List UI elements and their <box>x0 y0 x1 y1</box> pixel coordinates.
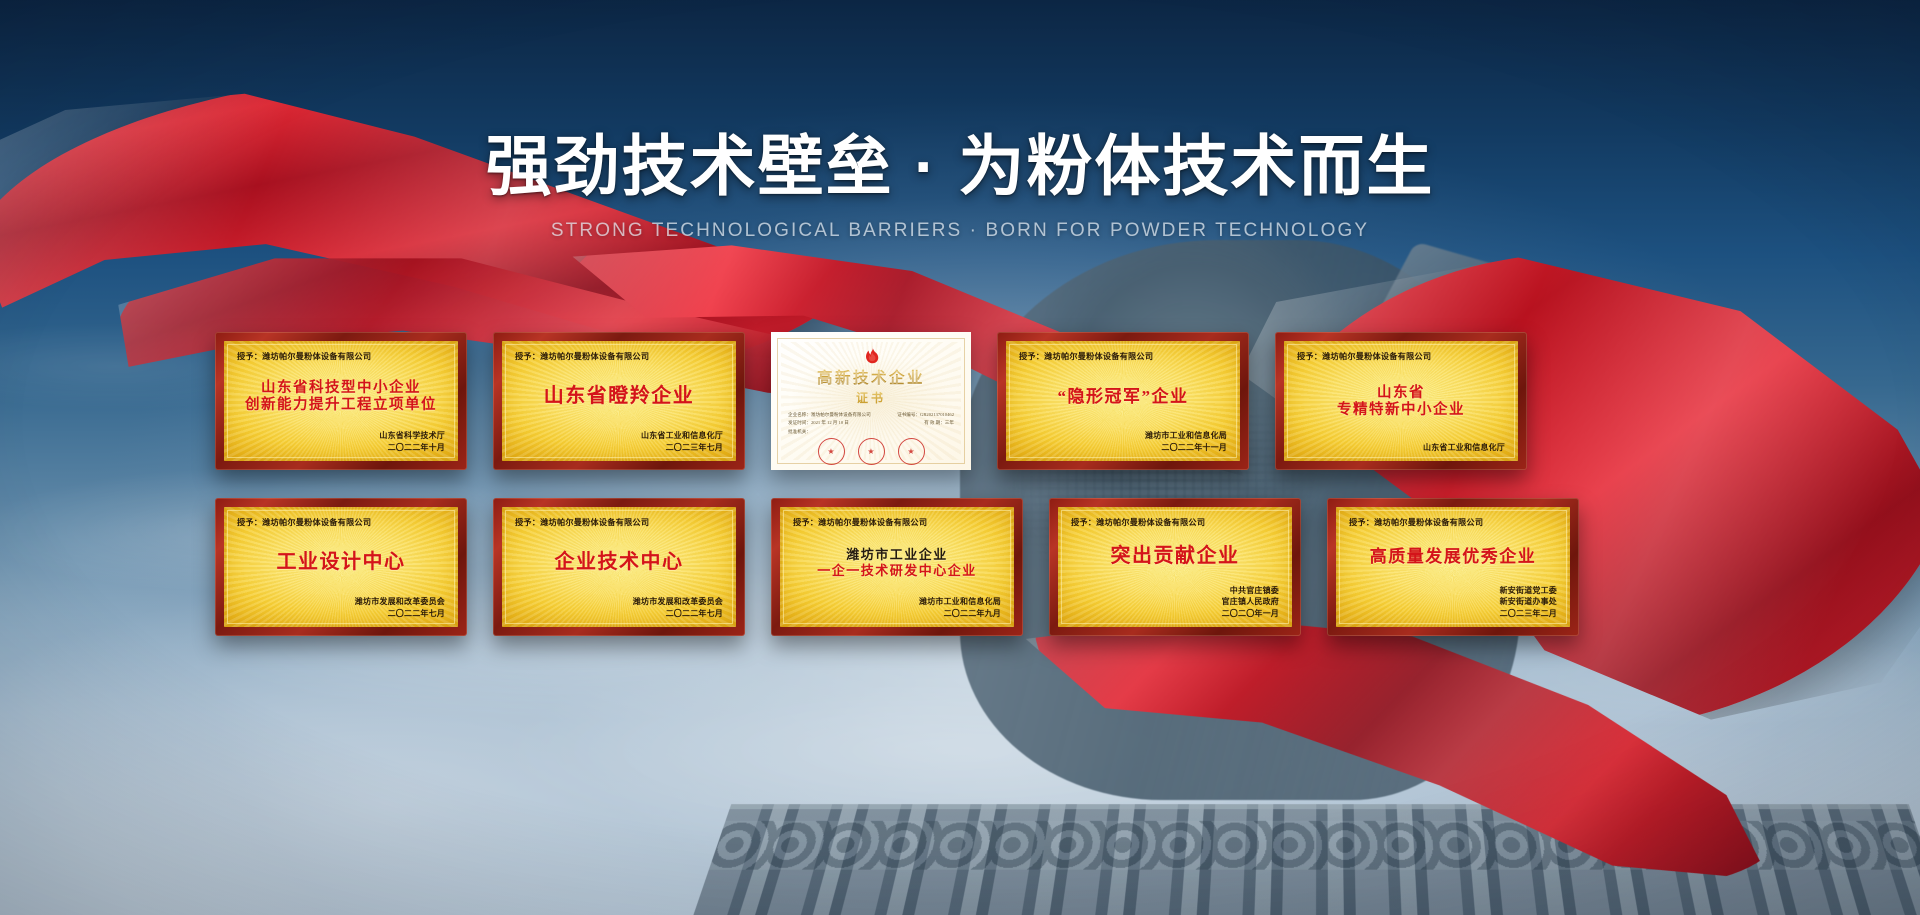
certificate-title-line: 山东省 <box>1377 385 1425 402</box>
certificate-field: 发证时间：2021 年 12 月 10 日 <box>788 419 849 427</box>
certificate-title: “隐形冠军”企业 <box>1019 363 1227 430</box>
certificate-approver-label: 批准机关： <box>788 428 811 436</box>
certificate-issuer-block: 山东省科学技术厅二〇二二年十月 <box>237 430 445 453</box>
certificate-title: 高新技术企业 <box>817 366 925 388</box>
certificate-date: 二〇二〇年一月 <box>1071 608 1279 619</box>
certificate-title-line: 山东省科技型中小企业 <box>261 380 421 397</box>
certificate-issuer-block: 山东省工业和信息化厅 <box>1297 442 1505 453</box>
flame-icon <box>863 346 880 365</box>
certificate-subtitle: 证书 <box>856 389 886 406</box>
certificate-plaque[interactable]: 授予：潍坊帕尔曼粉体设备有限公司企业技术中心潍坊市发展和改革委员会二〇二二年七月 <box>493 498 745 636</box>
seal-2-stamp-icon <box>858 438 885 465</box>
certificate-field-row: 发证时间：2021 年 12 月 10 日有 效 期：三年 <box>788 419 954 427</box>
certificate-approver-row: 批准机关： <box>788 428 954 436</box>
certificate-date: 二〇二二年九月 <box>793 608 1001 619</box>
seal-1-stamp-icon <box>818 438 845 465</box>
certificate-date: 二〇二二年十月 <box>237 442 445 453</box>
certificate-title-line: 专精特新中小企业 <box>1337 402 1465 419</box>
certificate-awardee: 授予：潍坊帕尔曼粉体设备有限公司 <box>1019 350 1227 362</box>
certificate-issuer-block: 潍坊市工业和信息化局二〇二二年十一月 <box>1019 430 1227 453</box>
certificate-awardee: 授予：潍坊帕尔曼粉体设备有限公司 <box>1071 516 1279 528</box>
certificate-date: 二〇二三年二月 <box>1349 608 1557 619</box>
certificate-issuer: 山东省工业和信息化厅 <box>1297 442 1505 453</box>
certificate-issuer-block: 潍坊市工业和信息化局二〇二二年九月 <box>793 596 1001 619</box>
certificate-title: 山东省科技型中小企业创新能力提升工程立项单位 <box>237 363 445 430</box>
certificate-issuer-block: 新安街道党工委新安街道办事处二〇二三年二月 <box>1349 585 1557 619</box>
certificate-field-value: 三年 <box>945 420 954 425</box>
certificate-date: 二〇二二年七月 <box>515 608 723 619</box>
certificate-field-label: 证书编号： <box>897 412 920 417</box>
certificate-date: 二〇二二年十一月 <box>1019 442 1227 453</box>
high-tech-enterprise-certificate[interactable]: 高新技术企业证书企业名称：潍坊帕尔曼粉体设备有限公司证书编号：GR2021370… <box>771 332 971 470</box>
certificate-issuer-block: 山东省工业和信息化厅二〇二三年七月 <box>515 430 723 453</box>
certificate-issuer-block: 潍坊市发展和改革委员会二〇二二年七月 <box>237 596 445 619</box>
certificate-title: 突出贡献企业 <box>1071 529 1279 585</box>
certificate-field-value: GR202137010462 <box>920 412 954 417</box>
seal-3-stamp-icon <box>898 438 925 465</box>
certificate-plaque[interactable]: 授予：潍坊帕尔曼粉体设备有限公司突出贡献企业中共官庄镇委官庄镇人民政府二〇二〇年… <box>1049 498 1301 636</box>
certificate-issuer: 山东省工业和信息化厅 <box>515 430 723 441</box>
certificate-title: 山东省专精特新中小企业 <box>1297 363 1505 442</box>
certificate-field-label: 发证时间： <box>788 420 811 425</box>
certificate-issuer: 新安街道办事处 <box>1349 596 1557 607</box>
certificate-title: 工业设计中心 <box>237 529 445 596</box>
certificate-title-line: 企业技术中心 <box>555 551 684 575</box>
certificate-plaque[interactable]: 授予：潍坊帕尔曼粉体设备有限公司山东省专精特新中小企业山东省工业和信息化厅 <box>1275 332 1527 470</box>
certificate-field: 有 效 期：三年 <box>924 419 954 427</box>
certificate-grid: 授予：潍坊帕尔曼粉体设备有限公司山东省科技型中小企业创新能力提升工程立项单位山东… <box>215 332 1705 636</box>
certificate-field-label: 企业名称： <box>788 412 811 417</box>
certificate-issuer: 山东省科学技术厅 <box>237 430 445 441</box>
plaque-gold-panel: 授予：潍坊帕尔曼粉体设备有限公司工业设计中心潍坊市发展和改革委员会二〇二二年七月 <box>224 507 458 627</box>
certificate-title-line: 山东省瞪羚企业 <box>544 385 695 409</box>
certificate-field-value: 2021 年 12 月 10 日 <box>811 420 849 425</box>
honor-banner: 强劲技术壁垒 · 为粉体技术而生 STRONG TECHNOLOGICAL BA… <box>0 0 1920 915</box>
certificate-issuer: 潍坊市工业和信息化局 <box>793 596 1001 607</box>
certificate-issuer-block: 潍坊市发展和改革委员会二〇二二年七月 <box>515 596 723 619</box>
plaque-gold-panel: 授予：潍坊帕尔曼粉体设备有限公司潍坊市工业企业一企一技术研发中心企业潍坊市工业和… <box>780 507 1014 627</box>
certificate-plaque[interactable]: 授予：潍坊帕尔曼粉体设备有限公司潍坊市工业企业一企一技术研发中心企业潍坊市工业和… <box>771 498 1023 636</box>
plaque-gold-panel: 授予：潍坊帕尔曼粉体设备有限公司企业技术中心潍坊市发展和改革委员会二〇二二年七月 <box>502 507 736 627</box>
certificate-field-label: 有 效 期： <box>924 420 945 425</box>
certificate-issuer-block: 中共官庄镇委官庄镇人民政府二〇二〇年一月 <box>1071 585 1279 619</box>
plaque-gold-panel: 授予：潍坊帕尔曼粉体设备有限公司“隐形冠军”企业潍坊市工业和信息化局二〇二二年十… <box>1006 341 1240 461</box>
certificate-title-line: 一企一技术研发中心企业 <box>817 563 977 578</box>
certificate-issuer: 官庄镇人民政府 <box>1071 596 1279 607</box>
certificate-title-line: “隐形冠军”企业 <box>1058 387 1189 407</box>
plaque-gold-panel: 授予：潍坊帕尔曼粉体设备有限公司山东省科技型中小企业创新能力提升工程立项单位山东… <box>224 341 458 461</box>
certificate-plaque[interactable]: 授予：潍坊帕尔曼粉体设备有限公司高质量发展优秀企业新安街道党工委新安街道办事处二… <box>1327 498 1579 636</box>
certificate-awardee: 授予：潍坊帕尔曼粉体设备有限公司 <box>237 516 445 528</box>
certificate-issuer: 中共官庄镇委 <box>1071 585 1279 596</box>
certificate-title-line: 创新能力提升工程立项单位 <box>245 397 437 414</box>
certificate-title: 高质量发展优秀企业 <box>1349 529 1557 585</box>
certificate-field-row: 企业名称：潍坊帕尔曼粉体设备有限公司证书编号：GR202137010462 <box>788 411 954 419</box>
plaque-gold-panel: 授予：潍坊帕尔曼粉体设备有限公司突出贡献企业中共官庄镇委官庄镇人民政府二〇二〇年… <box>1058 507 1292 627</box>
certificate-issuer: 潍坊市工业和信息化局 <box>1019 430 1227 441</box>
certificate-title: 企业技术中心 <box>515 529 723 596</box>
certificate-date: 二〇二三年七月 <box>515 442 723 453</box>
certificate-field: 企业名称：潍坊帕尔曼粉体设备有限公司 <box>788 411 871 419</box>
certificate-awardee: 授予：潍坊帕尔曼粉体设备有限公司 <box>237 350 445 362</box>
certificate-issuer: 潍坊市发展和改革委员会 <box>237 596 445 607</box>
certificate-awardee: 授予：潍坊帕尔曼粉体设备有限公司 <box>1297 350 1505 362</box>
certificate-row-1: 授予：潍坊帕尔曼粉体设备有限公司山东省科技型中小企业创新能力提升工程立项单位山东… <box>215 332 1705 470</box>
certificate-title-line: 潍坊市工业企业 <box>846 547 948 562</box>
certificate-plaque[interactable]: 授予：潍坊帕尔曼粉体设备有限公司工业设计中心潍坊市发展和改革委员会二〇二二年七月 <box>215 498 467 636</box>
certificate-title-line: 突出贡献企业 <box>1111 545 1240 569</box>
certificate-plaque[interactable]: 授予：潍坊帕尔曼粉体设备有限公司山东省瞪羚企业山东省工业和信息化厅二〇二三年七月 <box>493 332 745 470</box>
page-title: 强劲技术壁垒 · 为粉体技术而生 <box>0 132 1920 202</box>
certificate-row-2: 授予：潍坊帕尔曼粉体设备有限公司工业设计中心潍坊市发展和改革委员会二〇二二年七月… <box>215 498 1705 636</box>
certificate-awardee: 授予：潍坊帕尔曼粉体设备有限公司 <box>515 516 723 528</box>
certificate-plaque[interactable]: 授予：潍坊帕尔曼粉体设备有限公司“隐形冠军”企业潍坊市工业和信息化局二〇二二年十… <box>997 332 1249 470</box>
carved-stone-base <box>690 804 1920 915</box>
page-subtitle: STRONG TECHNOLOGICAL BARRIERS · BORN FOR… <box>0 220 1920 242</box>
hero-text-block: 强劲技术壁垒 · 为粉体技术而生 STRONG TECHNOLOGICAL BA… <box>0 132 1920 242</box>
certificate-plaque[interactable]: 授予：潍坊帕尔曼粉体设备有限公司山东省科技型中小企业创新能力提升工程立项单位山东… <box>215 332 467 470</box>
certificate-awardee: 授予：潍坊帕尔曼粉体设备有限公司 <box>1349 516 1557 528</box>
certificate-awardee: 授予：潍坊帕尔曼粉体设备有限公司 <box>515 350 723 362</box>
certificate-title: 潍坊市工业企业一企一技术研发中心企业 <box>793 529 1001 596</box>
certificate-issuer: 新安街道党工委 <box>1349 585 1557 596</box>
certificate-title: 山东省瞪羚企业 <box>515 363 723 430</box>
plaque-gold-panel: 授予：潍坊帕尔曼粉体设备有限公司山东省瞪羚企业山东省工业和信息化厅二〇二三年七月 <box>502 341 736 461</box>
certificate-issuer: 潍坊市发展和改革委员会 <box>515 596 723 607</box>
certificate-title-line: 工业设计中心 <box>277 551 406 575</box>
certificate-date: 二〇二二年七月 <box>237 608 445 619</box>
certificate-title-line: 高质量发展优秀企业 <box>1370 547 1537 567</box>
certificate-field: 证书编号：GR202137010462 <box>897 411 954 419</box>
certificate-awardee: 授予：潍坊帕尔曼粉体设备有限公司 <box>793 516 1001 528</box>
certificate-fields: 企业名称：潍坊帕尔曼粉体设备有限公司证书编号：GR202137010462发证时… <box>780 411 962 436</box>
certificate-field-value: 潍坊帕尔曼粉体设备有限公司 <box>811 412 871 417</box>
plaque-gold-panel: 授予：潍坊帕尔曼粉体设备有限公司山东省专精特新中小企业山东省工业和信息化厅 <box>1284 341 1518 461</box>
certificate-seals <box>818 438 925 465</box>
plaque-gold-panel: 授予：潍坊帕尔曼粉体设备有限公司高质量发展优秀企业新安街道党工委新安街道办事处二… <box>1336 507 1570 627</box>
